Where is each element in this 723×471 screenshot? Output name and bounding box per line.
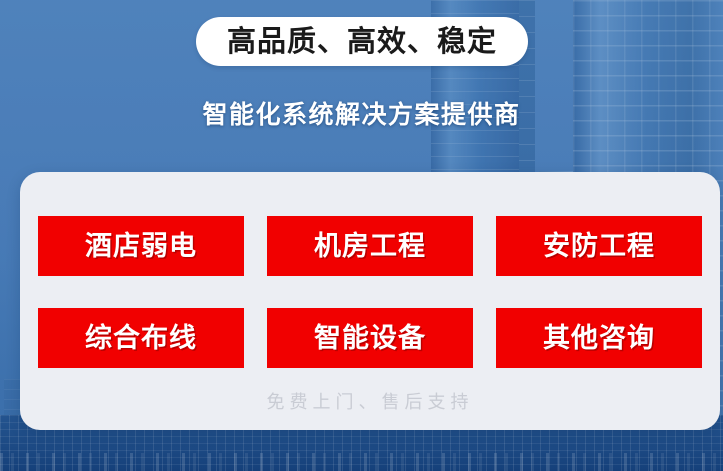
- service-button-label: 安防工程: [543, 233, 655, 260]
- service-button-hotel-weak-current[interactable]: 酒店弱电: [38, 216, 244, 276]
- services-card: 酒店弱电 机房工程 安防工程 综合布线 智能设备 其他咨询 免费上门、售后支持: [20, 172, 720, 430]
- service-button-machine-room-engineering[interactable]: 机房工程: [267, 216, 473, 276]
- service-button-security-engineering[interactable]: 安防工程: [496, 216, 702, 276]
- service-button-grid: 酒店弱电 机房工程 安防工程 综合布线 智能设备 其他咨询: [38, 216, 702, 368]
- service-button-label: 酒店弱电: [85, 233, 197, 260]
- service-button-label: 智能设备: [314, 325, 426, 352]
- service-button-other-consultation[interactable]: 其他咨询: [496, 308, 702, 368]
- service-button-label: 综合布线: [85, 325, 197, 352]
- service-button-label: 其他咨询: [543, 325, 655, 352]
- headline-pill: 高品质、高效、稳定: [196, 17, 528, 66]
- promo-banner: 高品质、高效、稳定 智能化系统解决方案提供商 酒店弱电 机房工程 安防工程 综合…: [0, 0, 723, 471]
- service-button-smart-devices[interactable]: 智能设备: [267, 308, 473, 368]
- subtitle-text: 智能化系统解决方案提供商: [0, 95, 723, 131]
- card-footer-text: 免费上门、售后支持: [20, 388, 720, 414]
- service-button-label: 机房工程: [314, 233, 426, 260]
- service-button-structured-cabling[interactable]: 综合布线: [38, 308, 244, 368]
- headline-text: 高品质、高效、稳定: [227, 27, 497, 56]
